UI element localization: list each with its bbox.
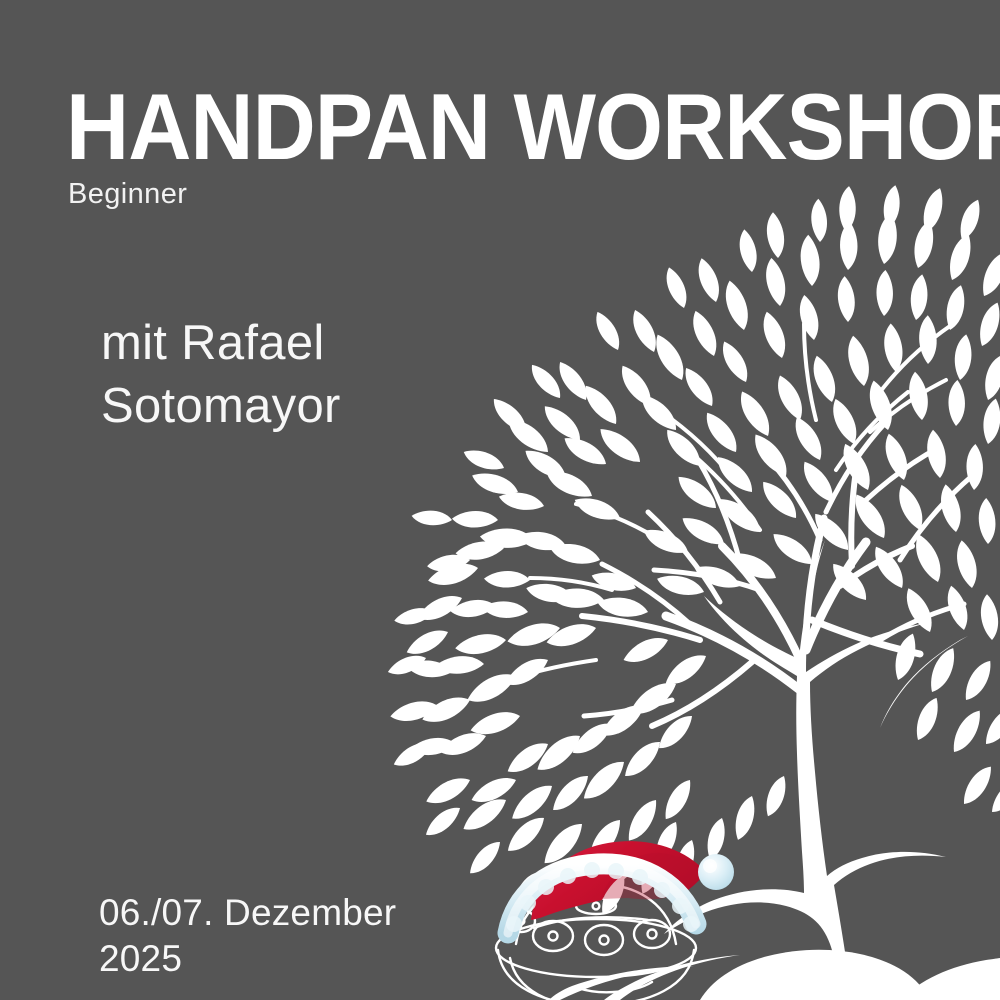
- page-title: HANDPAN WORKSHOP: [66, 80, 1000, 174]
- poster-canvas: HANDPAN WORKSHOP Beginner mit Rafael Sot…: [0, 0, 1000, 1000]
- date-line-2: 2025: [99, 936, 396, 982]
- presenter-line-2: Sotomayor: [101, 375, 341, 438]
- date-line-1: 06./07. Dezember: [99, 890, 396, 936]
- presenter-line-1: mit Rafael: [101, 312, 341, 375]
- workshop-level-subtitle: Beginner: [68, 178, 187, 211]
- poster-text-layer: HANDPAN WORKSHOP Beginner mit Rafael Sot…: [0, 0, 1000, 1000]
- date-block: 06./07. Dezember 2025: [99, 890, 396, 983]
- presenter-block: mit Rafael Sotomayor: [101, 312, 341, 437]
